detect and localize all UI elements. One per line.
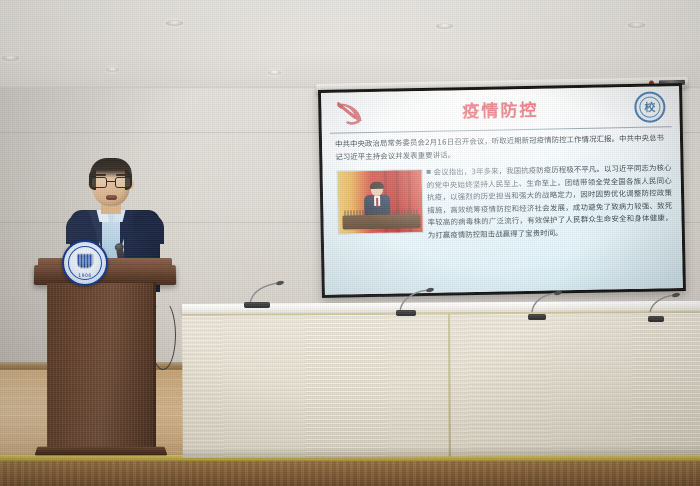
podium-wood-grain	[47, 283, 153, 451]
conference-table-front	[182, 311, 700, 458]
seal-shield-emblem	[77, 254, 94, 269]
slide-bullet-text: 会议指出，3年多来，我国抗疫防疫历程极不平凡。以习近平同志为核心的党中央始终坚持…	[427, 163, 673, 240]
seal-year: 1906	[64, 274, 106, 279]
mic-base	[396, 310, 416, 316]
ceiling-spotlight	[2, 55, 19, 61]
ceiling-spotlight	[268, 70, 281, 75]
ceiling-spotlight	[628, 22, 645, 28]
table-microphone[interactable]	[648, 294, 700, 322]
ceiling-spotlight	[436, 23, 453, 29]
podium-base	[35, 447, 168, 456]
slide-bullet-paragraph: 会议指出，3年多来，我国抗疫防疫历程极不平凡。以习近平同志为核心的党中央始终坚持…	[426, 162, 672, 242]
mic-base	[244, 302, 270, 308]
slide-title: 疫情防控	[321, 93, 679, 125]
glasses-icon	[90, 177, 132, 188]
stage-front-texture	[0, 461, 700, 486]
university-seal: 1906	[62, 240, 108, 286]
table-microphone[interactable]	[244, 280, 302, 308]
glasses-lens-right	[115, 177, 131, 188]
figure-hair	[370, 182, 384, 189]
mic-base	[648, 316, 664, 322]
photo-rostrum	[342, 214, 420, 229]
screen-surface: 疫情防控 校 中共中央政治局常务委员会2月16日召开会议，听取近期新冠疫情防控工…	[321, 86, 683, 295]
lecture-hall-photo: 疫情防控 校 中共中央政治局常务委员会2月16日召开会议，听取近期新冠疫情防控工…	[0, 0, 700, 486]
table-microphone[interactable]	[528, 292, 586, 320]
glasses-bridge	[107, 181, 115, 182]
speaker-mouth	[106, 195, 117, 200]
table-texture	[182, 313, 700, 458]
ceiling-spotlight	[166, 20, 183, 26]
seal-shield-stripes	[77, 254, 94, 269]
bullet-marker-icon	[427, 170, 431, 174]
podium-body	[47, 283, 153, 451]
slide-body: 会议指出，3年多来，我国抗疫防疫历程极不平凡。以习近平同志为核心的党中央始终坚持…	[323, 162, 683, 295]
glasses-lens-left	[91, 177, 107, 188]
ceiling-spotlight	[106, 67, 119, 72]
table-microphone[interactable]	[396, 288, 454, 316]
slide-lead-paragraph: 中共中央政治局常务委员会2月16日召开会议，听取近期新冠疫情防控工作情况汇报。中…	[335, 131, 670, 163]
projection-screen[interactable]: 疫情防控 校 中共中央政治局常务委员会2月16日召开会议，听取近期新冠疫情防控工…	[318, 83, 686, 298]
figure-tie	[376, 198, 378, 207]
microphone-head	[114, 242, 124, 251]
logo-mark: 校	[644, 102, 655, 113]
presentation-slide: 疫情防控 校 中共中央政治局常务委员会2月16日召开会议，听取近期新冠疫情防控工…	[321, 86, 683, 295]
speaker-eyebrow-left	[94, 174, 106, 176]
slide-header: 疫情防控 校	[321, 86, 680, 135]
speaker-eyebrow-right	[116, 174, 128, 176]
mic-base	[528, 314, 546, 320]
slide-embedded-photo	[337, 169, 424, 235]
